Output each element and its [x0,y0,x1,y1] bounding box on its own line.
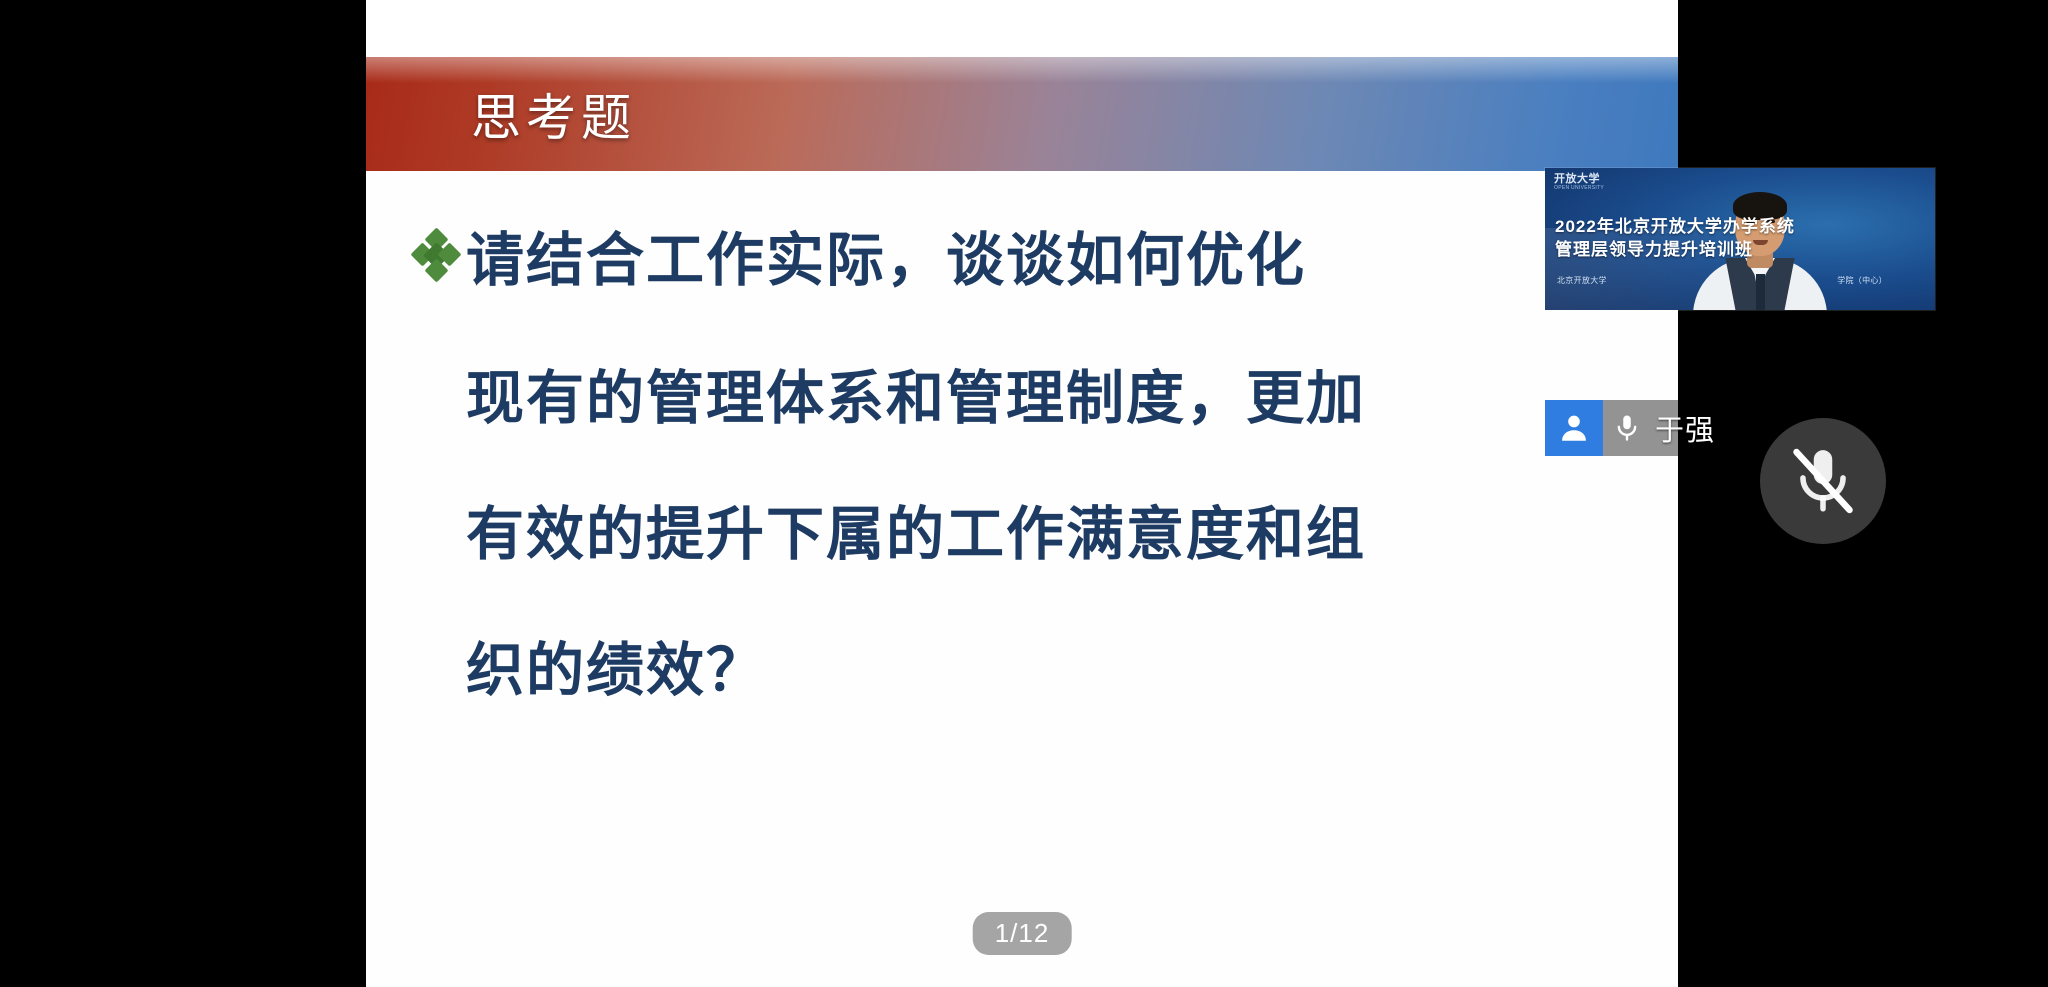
presentation-slide: 思考题 请结合工作实际，谈谈如何优化 现有的管理体系和管理制度，更加 有效的提升… [366,0,1678,987]
participant-name-strip: 于强 [1545,400,1733,456]
tile-footer-right: 学院（中心） [1837,275,1887,286]
letterbox-left [0,0,366,987]
participant-name: 于强 [1651,407,1733,449]
microphone-muted-icon [1786,441,1860,521]
slide-title-banner: 思考题 [366,57,1678,171]
tile-headline: 2022年北京开放大学办学系统 管理层领导力提升培训班 [1555,216,1925,262]
page-indicator: 1/12 [973,912,1072,955]
participant-video-tile[interactable]: 开放大学 OPEN UNIVERSITY 2022年北京开放大学办学系统 管理层… [1545,168,1935,310]
logo-cn-text: 开放大学 [1554,174,1618,186]
slide-line-4: 织的绩效？ [466,623,766,707]
tile-footer-left: 北京开放大学 [1557,275,1607,286]
slide-line-2: 现有的管理体系和管理制度，更加 [466,351,1366,435]
slide-line-2-text: 现有的管理体系和管理制度，更加 [466,351,1366,435]
slide-line-3: 有效的提升下属的工作满意度和组 [466,487,1366,571]
slide-line-1: 请结合工作实际，谈谈如何优化 [414,213,1306,297]
microphone-icon[interactable] [1603,411,1651,445]
microphone-muted-button[interactable] [1760,418,1886,544]
tile-headline-line2: 管理层领导力提升培训班 [1555,239,1925,262]
logo-en-text: OPEN UNIVERSITY [1554,186,1618,191]
slide-title: 思考题 [471,78,636,150]
slide-top-margin [366,0,1678,57]
university-logo: 开放大学 OPEN UNIVERSITY [1554,174,1618,196]
tile-headline-line1: 2022年北京开放大学办学系统 [1555,216,1925,239]
green-diamond-bullet-icon [414,229,458,281]
slide-line-4-text: 织的绩效？ [466,623,766,707]
slide-line-1-text: 请结合工作实际，谈谈如何优化 [466,213,1306,297]
meeting-screen: 思考题 请结合工作实际，谈谈如何优化 现有的管理体系和管理制度，更加 有效的提升… [0,0,2048,987]
slide-body: 请结合工作实际，谈谈如何优化 现有的管理体系和管理制度，更加 有效的提升下属的工… [366,171,1678,987]
person-icon [1545,400,1603,456]
slide-line-3-text: 有效的提升下属的工作满意度和组 [466,487,1366,571]
tile-footer: 北京开放大学 学院（中心） [1557,275,1887,286]
